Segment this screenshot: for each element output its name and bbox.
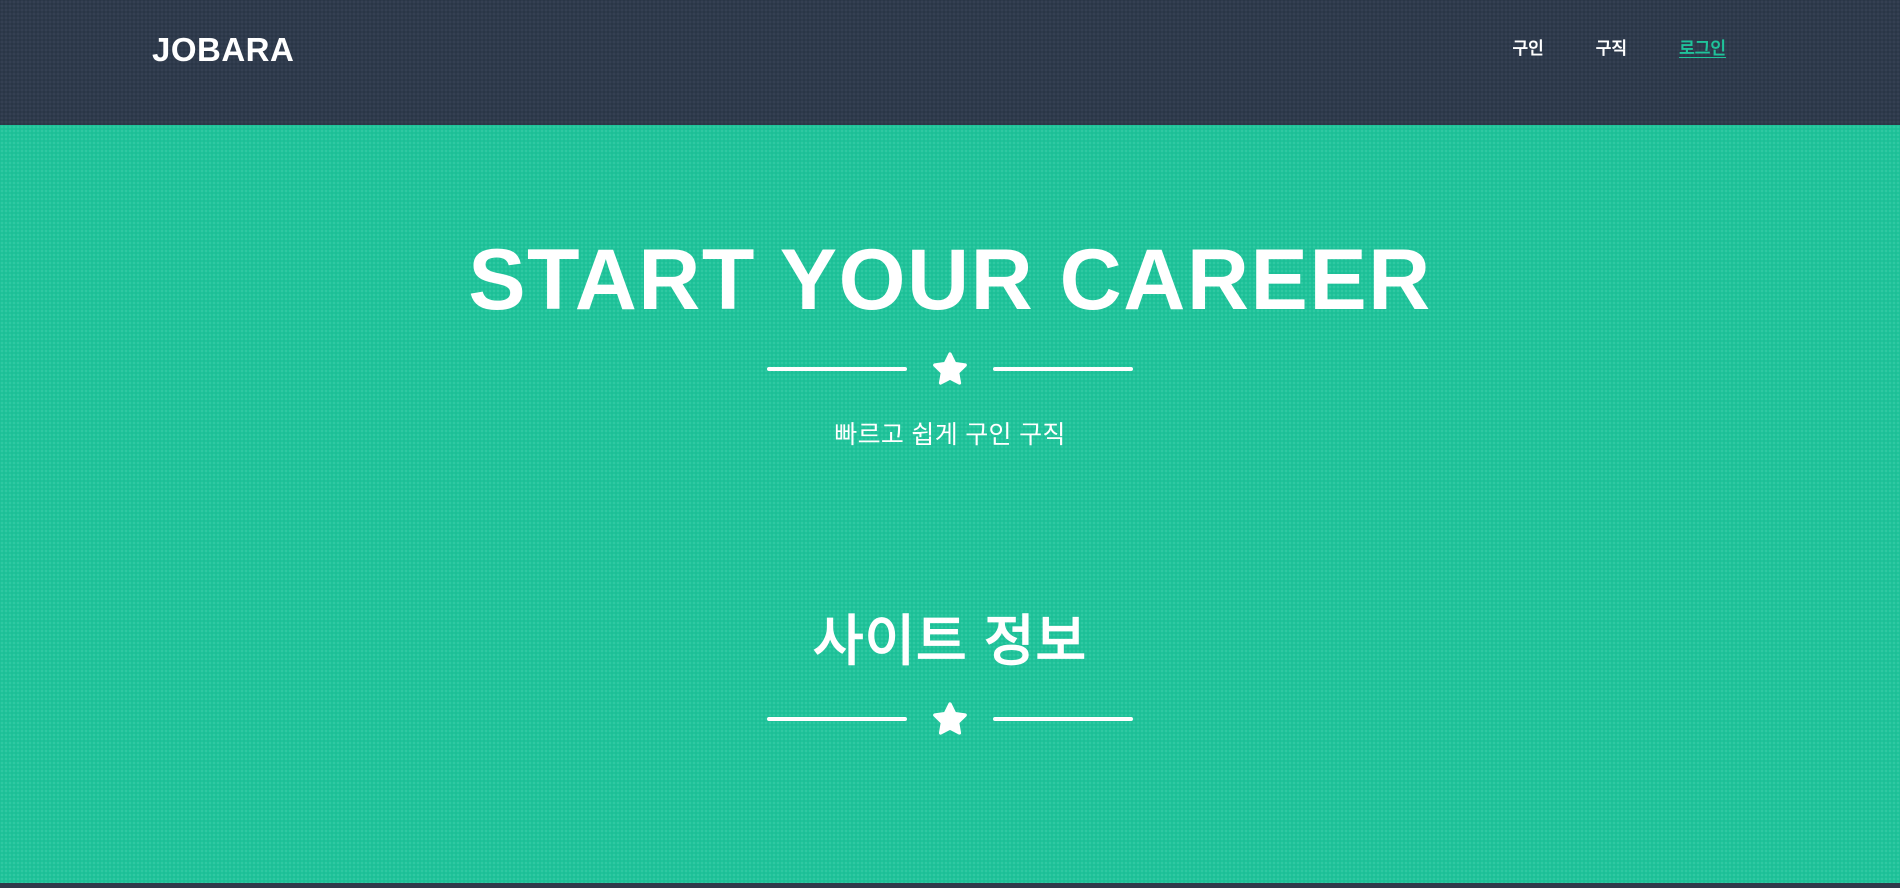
nav-link-job-postings[interactable]: 구인	[1509, 39, 1548, 58]
nav-item-gu-in: 구인	[1509, 38, 1548, 60]
nav-item-login: 로그인	[1675, 38, 1730, 60]
hero-subtitle: 빠르고 쉽게 구인 구직	[0, 418, 1900, 452]
site-info-title: 사이트 정보	[0, 608, 1900, 674]
divider-line-left	[767, 367, 907, 371]
hero-star-divider	[0, 350, 1900, 388]
nav-link-login[interactable]: 로그인	[1675, 39, 1730, 58]
main-navigation: 구인 구직 로그인	[1509, 38, 1730, 60]
star-icon	[931, 700, 969, 738]
divider-line-left	[767, 717, 907, 721]
hero-title: START YOUR CAREER	[0, 232, 1900, 328]
nav-item-gu-jik: 구직	[1592, 38, 1631, 60]
site-info-star-divider	[0, 700, 1900, 738]
brand-logo[interactable]: JOBARA	[152, 33, 294, 67]
star-icon	[931, 350, 969, 388]
hero-section: START YOUR CAREER 빠르고 쉽게 구인 구직 사이트 정보	[0, 125, 1900, 883]
site-header: JOBARA 구인 구직 로그인	[0, 0, 1900, 125]
site-info-section: 사이트 정보	[0, 608, 1900, 738]
nav-link-job-seekers[interactable]: 구직	[1592, 39, 1631, 58]
divider-line-right	[993, 717, 1133, 721]
page-root: JOBARA 구인 구직 로그인 START YOUR CAREER	[0, 0, 1900, 888]
divider-line-right	[993, 367, 1133, 371]
